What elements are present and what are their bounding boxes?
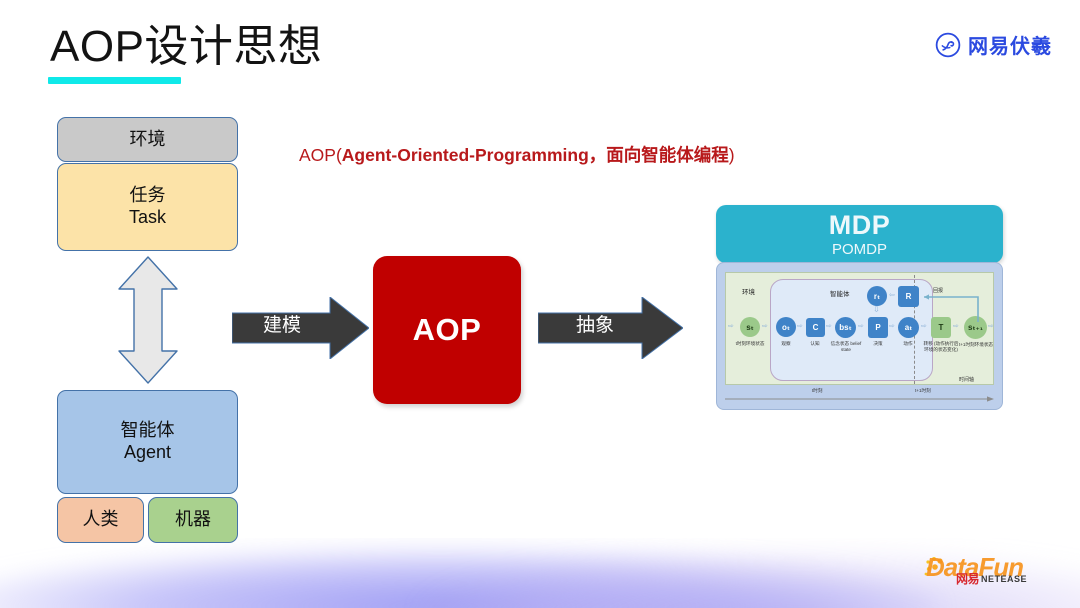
mdp-connector-down: ⇩ xyxy=(873,306,880,314)
mdp-diagram[interactable]: 环境 智能体 回报 时间轴 sₜ t时刻环境状态 oₜ 观察 C 认知 bsₜ … xyxy=(716,262,1003,410)
caption-prefix: AOP( xyxy=(299,145,342,165)
flow-box-task-label-cn: 任务 xyxy=(130,185,166,207)
mdp-sublabel-T: 转移 (动作执行后环境的状态变化) xyxy=(923,341,959,352)
mdp-connector: ⇨ xyxy=(988,323,994,330)
flow-box-human[interactable]: 人类 xyxy=(57,497,144,543)
arrow-modeling-label: 建模 xyxy=(263,316,301,335)
mdp-sublabel-s-t1: t+1时刻环境状态 xyxy=(958,342,994,348)
mdp-timeline-label-t: t时刻 xyxy=(812,388,822,394)
mdp-feedback-path xyxy=(918,289,980,327)
flow-box-agent[interactable]: 智能体 Agent xyxy=(57,390,238,494)
mdp-timeaxis-label: 时间轴 xyxy=(959,376,974,383)
title-underline xyxy=(48,77,181,84)
mdp-node-bs-t: bsₜ xyxy=(835,317,856,338)
flow-box-task-label-en: Task xyxy=(129,207,166,229)
mdp-node-r-t: rₜ xyxy=(867,286,887,306)
mdp-env-label: 环境 xyxy=(742,286,755,296)
mdp-timeline-label-t1: t+1时刻 xyxy=(915,388,931,394)
mdp-sublabel-a-t: 动作 xyxy=(897,341,919,347)
mdp-node-R: R xyxy=(898,286,919,307)
decorative-wave xyxy=(0,538,1080,608)
mdp-connector: ⇨ xyxy=(826,323,832,330)
mdp-agent-label: 智能体 xyxy=(830,288,850,298)
mdp-sublabel-P: 决策 xyxy=(867,341,889,347)
mdp-node-s-t: sₜ xyxy=(740,317,760,337)
mdp-connector: ⇨ xyxy=(797,323,803,330)
flow-box-agent-label-en: Agent xyxy=(124,442,171,464)
flow-box-machine[interactable]: 机器 xyxy=(148,497,238,543)
phoenix-logo-icon xyxy=(935,32,961,58)
mdp-node-P: P xyxy=(868,317,888,338)
mdp-timeline xyxy=(725,391,994,401)
mdp-node-o-t: oₜ xyxy=(776,317,796,337)
flow-box-human-label: 人类 xyxy=(83,509,119,531)
flow-box-environment[interactable]: 环境 xyxy=(57,117,238,162)
flow-box-machine-label: 机器 xyxy=(175,509,211,531)
mdp-node-a-t: aₜ xyxy=(898,317,919,338)
netease-en: NETEASE xyxy=(981,574,1027,584)
netease-cn: 网易 xyxy=(956,570,979,587)
mdp-title: MDP xyxy=(829,212,891,239)
mdp-sublabel-C: 认知 xyxy=(804,341,826,347)
mdp-connector-reward: ⇦ xyxy=(889,292,895,299)
netease-watermark: 网易 NETEASE xyxy=(956,570,1027,587)
caption-bold: Agent-Oriented-Programming，面向智能体编程 xyxy=(342,145,729,165)
arrow-abstraction-label: 抽象 xyxy=(576,316,614,335)
slide-canvas: AOP设计思想 网易伏羲 环境 任务 Task 智能体 Agent 人类 xyxy=(0,0,1080,608)
mdp-node-C: C xyxy=(806,318,825,337)
mdp-environment-region: 环境 智能体 回报 时间轴 sₜ t时刻环境状态 oₜ 观察 C 认知 bsₜ … xyxy=(725,272,994,385)
aop-definition-caption: AOP(Agent-Oriented-Programming，面向智能体编程) xyxy=(299,142,735,167)
flow-box-environment-label: 环境 xyxy=(130,129,166,151)
mdp-header[interactable]: MDP POMDP xyxy=(716,205,1003,263)
flow-box-task[interactable]: 任务 Task xyxy=(57,163,238,251)
mdp-subtitle: POMDP xyxy=(832,242,887,257)
mdp-sublabel-o-t: 观察 xyxy=(775,341,797,347)
mdp-connector: ⇨ xyxy=(889,323,895,330)
watermark: DataFun 网易 NETEASE xyxy=(926,548,1072,594)
mdp-connector: ⇨ xyxy=(858,323,864,330)
mdp-connector: ⇨ xyxy=(728,323,734,330)
bidirectional-arrow-icon xyxy=(107,255,189,385)
caption-suffix: ) xyxy=(729,145,735,165)
mdp-sublabel-s-t: t时刻环境状态 xyxy=(727,341,773,347)
brand-name: 网易伏羲 xyxy=(968,30,1052,59)
flow-box-agent-label-cn: 智能体 xyxy=(121,420,175,442)
brand-logo: 网易伏羲 xyxy=(935,30,1052,59)
page-title: AOP设计思想 xyxy=(50,23,322,71)
mdp-connector: ⇨ xyxy=(762,323,768,330)
mdp-sublabel-bs-t: 信念状态 belief state xyxy=(830,341,862,352)
aop-card[interactable]: AOP xyxy=(373,256,521,404)
aop-card-label: AOP xyxy=(413,312,482,348)
